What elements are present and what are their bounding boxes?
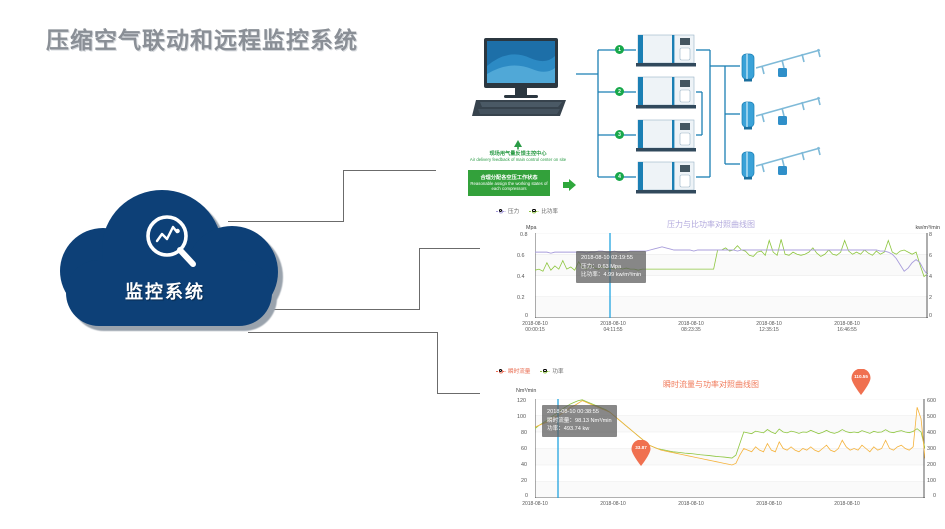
legend-marker-icon — [540, 369, 550, 374]
xtick-date: 2018-08-10 — [522, 321, 548, 327]
chart-2-xtick: 2018-08-10 — [500, 501, 570, 507]
tree-icon — [513, 140, 523, 150]
compressor-unit[interactable] — [636, 161, 696, 194]
chart-2-legend[interactable]: 瞬时流量 功率 — [496, 367, 564, 375]
distribution-piping — [756, 92, 836, 142]
distribution-piping — [756, 44, 836, 94]
tooltip-row: 压力：0.63 Mpa — [581, 263, 641, 272]
chart-1-xtick: 2018-08-10 00:00:15 — [500, 321, 570, 334]
chart-2-xtick: 2018-08-10 — [734, 501, 804, 507]
distribution-piping — [756, 142, 836, 192]
compressor-node-1[interactable]: 1 — [615, 45, 624, 54]
chart-2-ytick-right: 600 — [927, 398, 936, 404]
assign-status-en: Reasonable assign the working states of … — [468, 181, 550, 191]
chart-1-y-unit: Mpa — [526, 225, 537, 231]
marker-label: 33.87 — [631, 445, 651, 450]
monitor-caption: 现场用气量反馈主控中心 Air delivery feedback of mai… — [448, 140, 588, 162]
chart-panel-flow[interactable]: 瞬时流量 功率 瞬时流量与功率对照曲线图 Nm³/min 120 100 80 … — [480, 360, 942, 529]
chart-1-ytick-right: 4 — [929, 274, 932, 280]
legend-label: 压力 — [508, 207, 519, 215]
chart-2-ytick: 100 — [517, 414, 526, 420]
legend-label: 瞬时流量 — [508, 367, 530, 375]
xtick-date: 2018-08-10 — [678, 321, 704, 327]
control-center-monitor — [470, 36, 574, 122]
xtick-time: 04:11:55 — [603, 327, 622, 333]
chart-2-tooltip: 2018-08-10 00:38:55 瞬时流量：98.13 Nm³/min 功… — [542, 405, 617, 437]
magnifier-chart-icon — [142, 214, 202, 272]
legend-marker-icon — [529, 209, 539, 214]
page-title: 压缩空气联动和远程监控系统 — [46, 21, 358, 55]
monitoring-system-cloud[interactable]: 监控系统 — [40, 186, 290, 326]
chart-1-legend[interactable]: 压力 比功率 — [496, 207, 558, 215]
compressor-node-3[interactable]: 3 — [615, 130, 624, 139]
chart-2-ytick: 80 — [521, 430, 527, 436]
chart-2-ytick-right: 200 — [927, 462, 936, 468]
compressor-node-4[interactable]: 4 — [615, 172, 624, 181]
chart-1-xtick: 2018-08-10 16:46:55 — [812, 321, 882, 334]
slide-canvas: 压缩空气联动和远程监控系统 — [0, 0, 945, 529]
chart-1-ytick-right: 6 — [929, 253, 932, 259]
legend-item-pressure[interactable]: 压力 — [496, 207, 519, 215]
legend-item-power[interactable]: 功率 — [540, 367, 563, 375]
chart-1-xtick: 2018-08-10 04:11:55 — [578, 321, 648, 334]
data-marker-min[interactable]: 33.87 — [631, 440, 651, 466]
chart-2-ytick-right: 400 — [927, 430, 936, 436]
chart-panel-pressure[interactable]: 压力 比功率 压力与比功率对照曲线图 Mpa kw/m³/min 0.8 0.6… — [480, 200, 942, 335]
chart-2-xtick: 2018-08-10 — [578, 501, 648, 507]
xtick-date: 2018-08-10 — [678, 501, 704, 507]
legend-marker-icon — [496, 369, 506, 374]
chart-1-xtick: 2018-08-10 08:23:35 — [656, 321, 726, 334]
chart-2-ytick-right: 500 — [927, 414, 936, 420]
marker-label: 110.55 — [851, 374, 871, 379]
xtick-time: 16:46:55 — [837, 327, 856, 333]
xtick-date: 2018-08-10 — [756, 501, 782, 507]
xtick-date: 2018-08-10 — [834, 501, 860, 507]
chart-2-ytick: 120 — [517, 398, 526, 404]
chart-2-ytick: 20 — [521, 478, 527, 484]
system-diagram-panel[interactable]: 现场用气量反馈主控中心 Air delivery feedback of mai… — [430, 22, 942, 204]
tooltip-timestamp: 2018-08-10 00:38:55 — [547, 408, 612, 417]
connector-to-chart-2 — [248, 332, 500, 394]
xtick-date: 2018-08-10 — [756, 321, 782, 327]
chart-2-title: 瞬时流量与功率对照曲线图 — [480, 379, 942, 390]
compressor-unit[interactable] — [636, 34, 696, 67]
chart-1-xtick: 2018-08-10 12:35:15 — [734, 321, 804, 334]
chart-2-ytick-right: 300 — [927, 446, 936, 452]
chart-1-ytick-right: 0 — [929, 313, 932, 319]
compressor-node-2[interactable]: 2 — [615, 87, 624, 96]
cloud-label: 监控系统 — [40, 278, 290, 304]
tooltip-timestamp: 2018-08-10 02:19:55 — [581, 254, 641, 263]
air-tank[interactable] — [740, 150, 756, 180]
tooltip-row: 功率：493.74 kw — [547, 425, 612, 434]
chart-2-ytick: 40 — [521, 462, 527, 468]
data-marker-max[interactable]: 110.55 — [851, 369, 871, 395]
xtick-time: 00:00:15 — [525, 327, 544, 333]
legend-item-instant-flow[interactable]: 瞬时流量 — [496, 367, 530, 375]
legend-marker-icon — [496, 209, 506, 214]
compressor-unit[interactable] — [636, 119, 696, 152]
chart-2-ytick: 0 — [525, 493, 528, 499]
chart-1-ytick: 0.6 — [517, 253, 525, 259]
arrow-right-icon — [563, 178, 577, 190]
chart-1-ytick: 0.4 — [517, 274, 525, 280]
tooltip-row: 比功率：4.99 kw/m³/min — [581, 271, 641, 280]
xtick-date: 2018-08-10 — [600, 501, 626, 507]
legend-label: 比功率 — [541, 207, 558, 215]
tooltip-row: 瞬时流量：98.13 Nm³/min — [547, 417, 612, 426]
chart-2-xtick: 2018-08-10 — [812, 501, 882, 507]
legend-item-specific-power[interactable]: 比功率 — [529, 207, 558, 215]
assign-status-box[interactable]: 合理分配各空压工作状态 Reasonable assign the workin… — [468, 170, 550, 196]
chart-1-ytick: 0.2 — [517, 295, 525, 301]
chart-1-ytick-right: 2 — [929, 295, 932, 301]
chart-1-title: 压力与比功率对照曲线图 — [480, 219, 942, 230]
xtick-time: 08:23:35 — [681, 327, 700, 333]
chart-1-ytick: 0 — [525, 313, 528, 319]
chart-2-xtick: 2018-08-10 — [656, 501, 726, 507]
chart-2-ytick: 60 — [521, 446, 527, 452]
monitor-caption-en: Air delivery feedback of main control ce… — [448, 157, 588, 162]
chart-1-ytick: 0.8 — [520, 232, 528, 238]
chart-2-y-unit: Nm³/min — [516, 388, 536, 394]
legend-label: 功率 — [552, 367, 563, 375]
chart-1-ytick-right: 8 — [929, 232, 932, 238]
compressor-unit[interactable] — [636, 76, 696, 109]
xtick-date: 2018-08-10 — [522, 501, 548, 507]
chart-2-ytick-right: 0 — [933, 493, 936, 499]
xtick-date: 2018-08-10 — [834, 321, 860, 327]
air-tank[interactable] — [740, 52, 756, 82]
chart-1-tooltip: 2018-08-10 02:19:55 压力：0.63 Mpa 比功率：4.99… — [576, 251, 646, 283]
xtick-date: 2018-08-10 — [600, 321, 626, 327]
xtick-time: 12:35:15 — [759, 327, 778, 333]
air-tank[interactable] — [740, 100, 756, 130]
chart-1-y-unit-right: kw/m³/min — [915, 225, 940, 231]
chart-2-ytick-right: 100 — [927, 478, 936, 484]
